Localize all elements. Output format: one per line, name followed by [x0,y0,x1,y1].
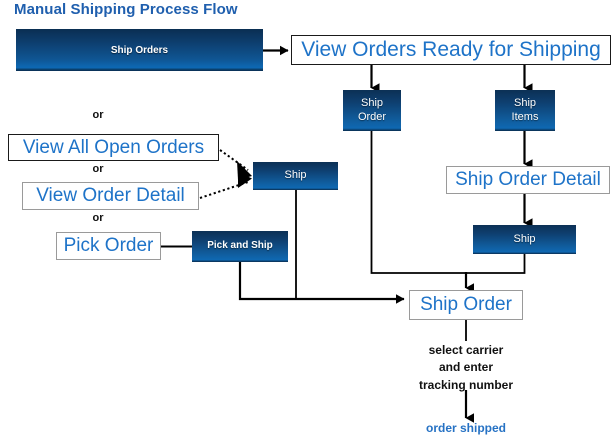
node-ship-order-small[interactable]: Ship Order [343,90,401,131]
node-view-orders-ready-for-shipping[interactable]: View Orders Ready for Shipping [291,35,611,65]
node-label-line1: Ship [358,97,386,111]
node-ship-items-small[interactable]: Ship Items [495,90,555,131]
node-label: Ship [513,233,535,247]
node-label: View All Open Orders [23,137,204,159]
edge-shiporder-small-to-shiporder-bottom [372,131,467,273]
node-label-line2: Order [358,111,386,125]
node-ship-order-detail[interactable]: Ship Order Detail [446,166,610,194]
banner-label: Ship Orders [111,45,168,56]
node-ship-order-bottom[interactable]: Ship Order [409,290,523,320]
node-label-line2: Items [512,111,539,125]
node-ship-right[interactable]: Ship [473,225,576,254]
caption-select-carrier: select carrier and enter tracking number [386,342,546,394]
node-label-line1: Ship [512,97,539,111]
node-view-order-detail[interactable]: View Order Detail [22,182,199,210]
connector-label-or-1: or [83,109,113,121]
caption-line3: tracking number [386,377,546,394]
node-pick-order[interactable]: Pick Order [56,232,161,260]
edge-ship-right-to-shiporder-bottom [466,254,525,273]
node-ship-middle[interactable]: Ship [253,162,338,190]
node-label: Pick and Ship [207,240,273,253]
edge-viewall-to-ship-dotted [220,150,248,170]
node-label: Ship Order [420,294,512,316]
node-label: View Order Detail [36,185,185,207]
node-label: Ship [284,169,306,183]
banner-ship-orders[interactable]: Ship Orders [16,29,263,71]
node-pick-and-ship[interactable]: Pick and Ship [192,231,288,262]
page-title: Manual Shipping Process Flow [14,1,238,18]
edge-pickandship-to-shiporder-bottom [240,262,404,299]
caption-line2: and enter [386,359,546,376]
connector-label-or-2: or [83,163,113,175]
node-label: Ship Order Detail [455,169,601,191]
label-order-shipped: order shipped [395,421,537,435]
node-label: Pick Order [64,235,154,257]
node-view-all-open-orders[interactable]: View All Open Orders [8,134,219,161]
node-label: View Orders Ready for Shipping [301,38,601,62]
connector-label-or-3: or [83,212,113,224]
caption-line1: select carrier [386,342,546,359]
